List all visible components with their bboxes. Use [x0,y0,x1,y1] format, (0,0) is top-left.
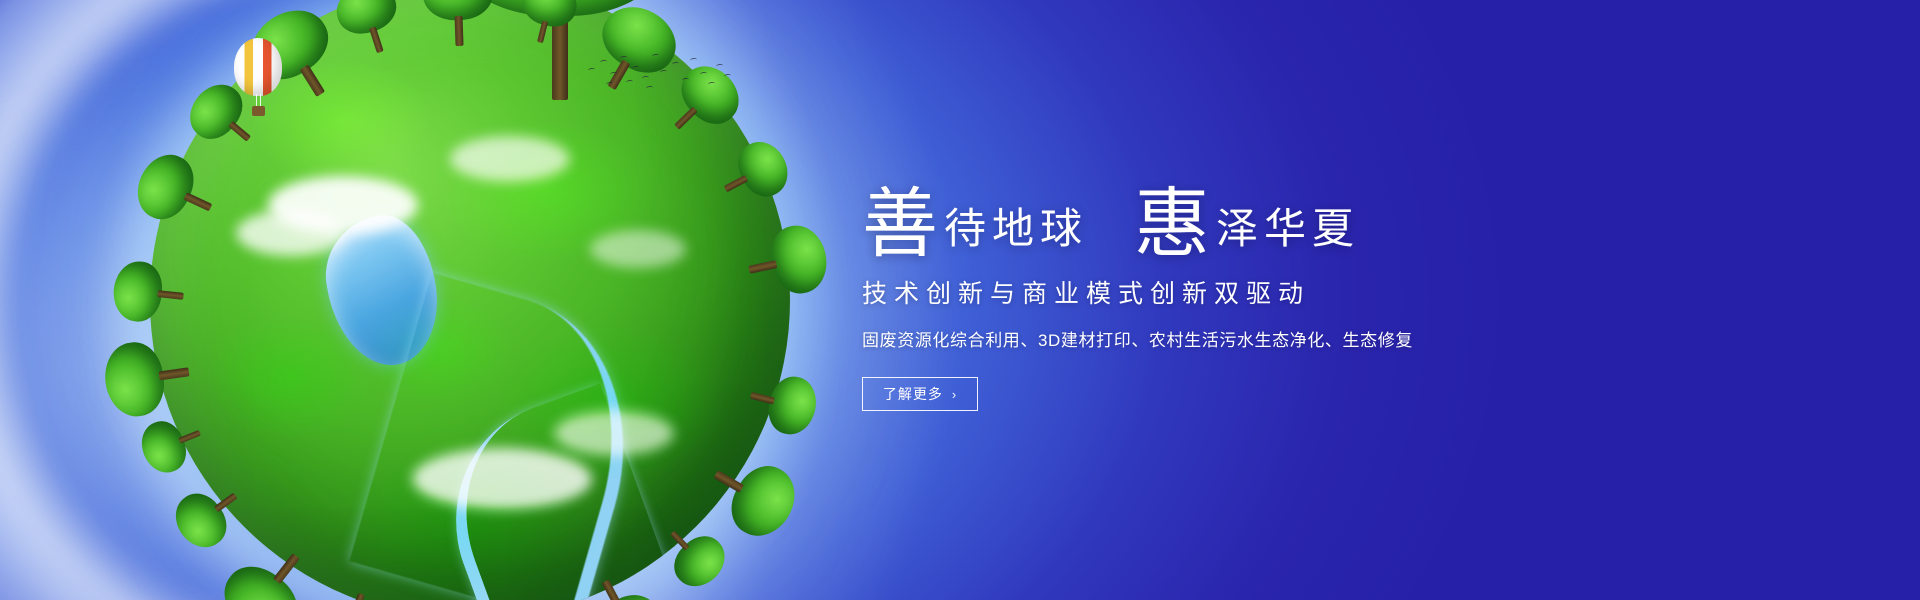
tree-trunk [455,16,464,46]
bird-icon [620,56,627,61]
tree-canopy [766,221,833,299]
bird-icon [716,64,723,69]
bird-icon [690,58,697,63]
hero-description: 固废资源化综合利用、3D建材打印、农村生活污水生态净化、生态修复 [862,326,1762,351]
tree-trunk [537,20,549,43]
bird-icon [646,86,653,91]
headline-brush-char-2: 惠 [1134,189,1210,259]
tree-trunk [602,580,621,600]
tree-trunk [369,26,384,53]
tree-trunk [349,592,365,600]
hero-banner: 善 待地球 惠 泽华夏 技术创新与商业模式创新双驱动 固废资源化综合利用、3D建… [0,0,1920,600]
tree-trunk [299,65,324,97]
bird-icon [600,60,607,65]
lake-icon [318,209,446,373]
tree-trunk [674,107,698,130]
tree-trunk [669,531,689,551]
balloon-basket [252,106,265,116]
tree-trunk [749,260,778,274]
tree-trunk [228,121,251,142]
surface-cloud-icon [590,230,686,268]
tree-trunk [179,429,202,443]
hero-content: 善 待地球 惠 泽华夏 技术创新与商业模式创新双驱动 固废资源化综合利用、3D建… [862,0,1762,600]
tree-trunk [215,493,238,513]
headline-rest-1: 待地球 [944,208,1088,258]
surface-cloud-icon [450,136,570,182]
tree-trunk [159,367,190,380]
learn-more-label: 了解更多 [883,384,943,404]
headline-brush-char-1: 善 [862,189,938,259]
rim-tree-icon [101,334,198,420]
tree-trunk [714,470,744,492]
rim-tree-icon [110,259,190,326]
hot-air-balloon-icon [234,38,282,120]
headline-rest-2: 泽华夏 [1216,208,1360,258]
surface-cloud-icon [236,210,346,256]
bird-icon [672,62,679,67]
tree-trunk [272,553,299,584]
tree-canopy [101,338,169,419]
surface-cloud-icon [268,176,418,234]
bird-icon [606,82,613,87]
hero-headline: 善 待地球 惠 泽华夏 [862,189,1762,259]
bird-icon [652,54,659,59]
hero-subtitle: 技术创新与商业模式创新双驱动 [862,274,1762,310]
bird-icon [660,70,667,75]
bird-icon [708,82,715,87]
balloon-envelope [234,38,282,96]
bird-icon [588,68,595,73]
bird-icon [626,80,633,85]
tree-trunk [183,192,212,211]
rim-tree-icon [422,0,495,51]
bird-flock-icon [586,48,726,94]
bird-icon [642,76,649,81]
river-icon [349,273,662,600]
surface-cloud-icon [554,410,674,456]
rim-tree-icon [738,221,832,305]
chevron-right-icon: › [952,388,957,401]
tree-canopy [763,372,822,439]
bird-icon [610,72,617,77]
learn-more-button[interactable]: 了解更多 › [862,377,978,411]
bird-icon [682,78,689,83]
surface-cloud-icon [412,448,592,510]
bird-icon [700,72,707,77]
tree-canopy [110,259,164,324]
bird-icon [632,66,639,71]
